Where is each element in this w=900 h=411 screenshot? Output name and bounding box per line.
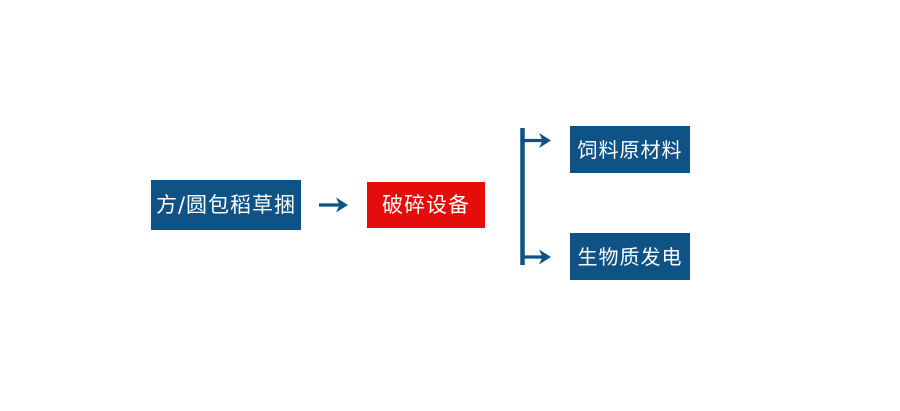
arrow-right-icon <box>314 190 354 220</box>
node-output-power-label: 生物质发电 <box>578 247 683 267</box>
node-process-crushing-equipment[interactable]: 破碎设备 <box>367 182 485 228</box>
node-source-straw-bale[interactable]: 方/圆包稻草捆 <box>151 180 301 230</box>
node-process-label: 破碎设备 <box>382 195 470 216</box>
diagram-canvas: 方/圆包稻草捆 破碎设备 饲料原材料 生物质发电 <box>0 0 900 411</box>
node-source-label: 方/圆包稻草捆 <box>156 195 296 216</box>
branch-arrows-icon <box>516 122 562 270</box>
node-output-biomass-power[interactable]: 生物质发电 <box>570 233 690 280</box>
node-output-feed-label: 饲料原材料 <box>578 140 683 160</box>
node-output-feed-material[interactable]: 饲料原材料 <box>570 126 690 173</box>
